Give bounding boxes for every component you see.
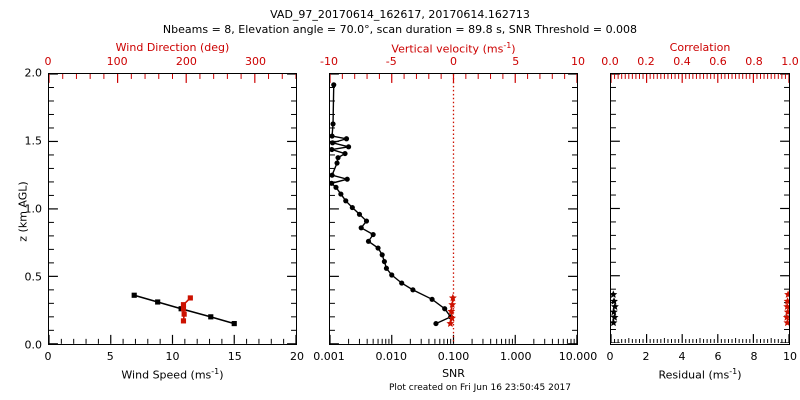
x-tick-label-residual-0: 0 — [607, 350, 614, 363]
y-tick-label-4: 2.0 — [8, 67, 42, 80]
x-tick-label-w-4: 10 — [571, 55, 585, 68]
x-tick-label-residual-2: 4 — [679, 350, 686, 363]
x-tick-label-windspeed-4: 20 — [290, 350, 304, 363]
residual-plot-area — [611, 74, 789, 343]
x-tick-label-residual-5: 10 — [783, 350, 797, 363]
plot-subtitle: Nbeams = 8, Elevation angle = 70.0°, sca… — [0, 23, 800, 36]
x-axis-title-snr: SNR — [329, 367, 578, 380]
panel-snr — [329, 73, 578, 345]
x-tick-label-correlation-5: 1.0 — [781, 55, 799, 68]
x-tick-label-correlation-3: 0.6 — [709, 55, 727, 68]
x-tick-label-windspeed-1: 5 — [107, 350, 114, 363]
x-tick-label-residual-1: 2 — [643, 350, 650, 363]
x-axis-title-windspeed: Wind Speed (ms-1) — [48, 367, 297, 382]
x-tick-label-correlation-0: 0.0 — [601, 55, 619, 68]
x-axis-title-winddir: Wind Direction (deg) — [48, 41, 297, 54]
x-tick-label-w-0: -10 — [320, 55, 338, 68]
x-tick-label-windspeed-3: 15 — [228, 350, 242, 363]
x-tick-label-correlation-4: 0.8 — [745, 55, 763, 68]
x-tick-label-windspeed-2: 10 — [166, 350, 180, 363]
x-axis-title-w: Vertical velocity (ms-1) — [329, 41, 578, 56]
x-tick-label-winddir-2: 200 — [176, 55, 197, 68]
x-tick-label-winddir-3: 300 — [245, 55, 266, 68]
y-tick-label-2: 1.0 — [8, 203, 42, 216]
x-tick-label-w-3: 5 — [512, 55, 519, 68]
x-tick-label-residual-3: 6 — [715, 350, 722, 363]
snr-plot-area — [330, 74, 577, 344]
x-tick-label-windspeed-0: 0 — [45, 350, 52, 363]
page-title: VAD_97_20170614_162617, 20170614.162713 — [0, 8, 800, 21]
x-axis-title-correlation: Correlation — [610, 41, 790, 54]
x-tick-label-winddir-0: 0 — [45, 55, 52, 68]
panel-wind-speed — [48, 73, 297, 345]
x-tick-label-w-2: 0 — [450, 55, 457, 68]
x-tick-label-snr-4: 10.000 — [559, 350, 598, 363]
x-tick-label-correlation-2: 0.4 — [673, 55, 691, 68]
wind-plot-area — [49, 74, 296, 344]
y-tick-label-3: 1.5 — [8, 135, 42, 148]
x-tick-label-winddir-1: 100 — [107, 55, 128, 68]
x-tick-label-snr-2: 0.100 — [438, 350, 470, 363]
y-tick-label-0: 0.0 — [8, 339, 42, 352]
x-tick-label-correlation-1: 0.2 — [637, 55, 655, 68]
x-tick-label-w-1: -5 — [386, 55, 397, 68]
vad-plot-figure: VAD_97_20170614_162617, 20170614.162713 … — [0, 0, 800, 400]
x-tick-label-snr-0: 0.001 — [313, 350, 345, 363]
x-tick-label-snr-3: 1.000 — [500, 350, 532, 363]
x-axis-title-residual: Residual (ms-1) — [610, 367, 790, 382]
y-tick-label-1: 0.5 — [8, 271, 42, 284]
plot-footer: Plot created on Fri Jun 16 23:50:45 2017 — [180, 383, 780, 393]
x-tick-label-snr-1: 0.010 — [376, 350, 408, 363]
panel-residual — [610, 73, 790, 345]
x-tick-label-residual-4: 8 — [751, 350, 758, 363]
